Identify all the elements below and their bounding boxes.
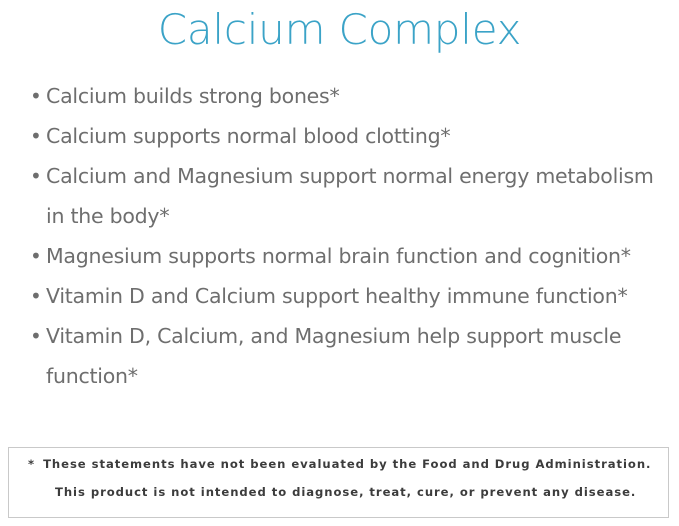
list-item: • Vitamin D, Calcium, and Magnesium help…	[26, 316, 662, 396]
bullet-icon: •	[30, 236, 42, 276]
disclaimer-line-2: This product is not intended to diagnose…	[55, 485, 636, 499]
bullet-icon: •	[30, 76, 42, 116]
disclaimer-line-1: *These statements have not been evaluate…	[28, 457, 651, 471]
disclaimer-box: *These statements have not been evaluate…	[8, 447, 669, 518]
product-benefits-panel: Calcium Complex • Calcium builds strong …	[0, 0, 679, 526]
list-item: • Calcium supports normal blood clotting…	[26, 116, 662, 156]
bullet-icon: •	[30, 316, 42, 356]
asterisk-icon: *	[28, 457, 34, 471]
list-item: • Vitamin D and Calcium support healthy …	[26, 276, 662, 316]
list-item-label: Vitamin D and Calcium support healthy im…	[46, 276, 662, 316]
list-item: • Calcium and Magnesium support normal e…	[26, 156, 662, 236]
list-item-label: Magnesium supports normal brain function…	[46, 236, 662, 276]
bullet-icon: •	[30, 276, 42, 316]
list-item: • Calcium builds strong bones*	[26, 76, 662, 116]
list-item-label: Calcium builds strong bones*	[46, 76, 662, 116]
list-item: • Magnesium supports normal brain functi…	[26, 236, 662, 276]
disclaimer-text-1: These statements have not been evaluated…	[43, 457, 651, 471]
list-item-label: Calcium and Magnesium support normal ene…	[46, 156, 662, 236]
page-title: Calcium Complex	[0, 2, 679, 58]
list-item-label: Vitamin D, Calcium, and Magnesium help s…	[46, 316, 662, 396]
benefits-list: • Calcium builds strong bones* • Calcium…	[26, 76, 662, 396]
bullet-icon: •	[30, 156, 42, 196]
list-item-label: Calcium supports normal blood clotting*	[46, 116, 662, 156]
bullet-icon: •	[30, 116, 42, 156]
